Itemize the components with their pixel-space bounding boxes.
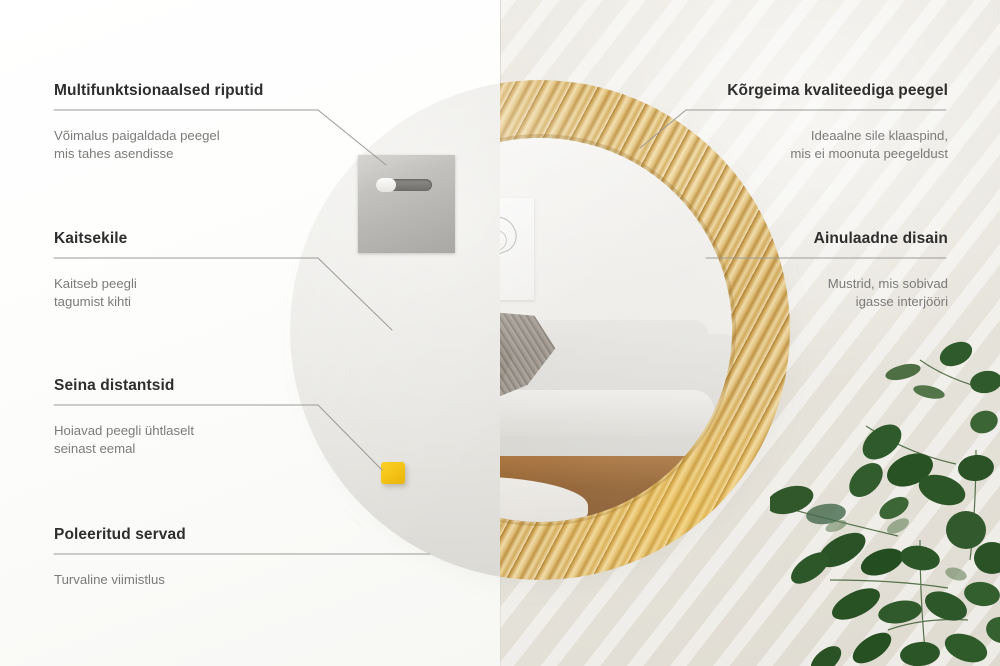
callout-multifunktsionaalsed-riputid: Multifunktsionaalsed riputid Võimalus pa… bbox=[54, 82, 314, 163]
callout-desc-line2: igasse interjööri bbox=[688, 293, 948, 311]
callout-desc-line1: Võimalus paigaldada peegel bbox=[54, 127, 314, 145]
eucalyptus-foliage bbox=[770, 330, 1000, 666]
callout-title: Kaitsekile bbox=[54, 230, 314, 249]
infographic-canvas: Multifunktsionaalsed riputid Võimalus pa… bbox=[0, 0, 1000, 666]
callout-rule-spacer bbox=[54, 101, 314, 115]
callout-desc-line1: Kaitseb peegli bbox=[54, 275, 314, 293]
callout-desc-line2: seinast eemal bbox=[54, 440, 314, 458]
callout-desc-line2: mis ei moonuta peegeldust bbox=[648, 145, 948, 163]
callout-title: Multifunktsionaalsed riputid bbox=[54, 82, 314, 101]
callout-kaitsekile: Kaitsekile Kaitseb peegli tagumist kihti bbox=[54, 230, 314, 311]
callout-desc-line1: Mustrid, mis sobivad bbox=[688, 275, 948, 293]
callout-title: Kõrgeima kvaliteediga peegel bbox=[648, 82, 948, 101]
callout-gap bbox=[54, 559, 354, 571]
callout-rule-spacer bbox=[54, 545, 354, 559]
callout-korgeima-kvaliteediga-peegel: Kõrgeima kvaliteediga peegel Ideaalne si… bbox=[648, 82, 948, 163]
callout-poleeritud-servad: Poleeritud servad Turvaline viimistlus bbox=[54, 526, 354, 589]
callout-desc-line1: Ideaalne sile klaaspind, bbox=[648, 127, 948, 145]
callout-title: Poleeritud servad bbox=[54, 526, 354, 545]
callout-gap bbox=[688, 263, 948, 275]
callout-rule-spacer bbox=[648, 101, 948, 115]
callout-gap bbox=[54, 115, 314, 127]
callout-gap bbox=[54, 263, 314, 275]
callout-title: Ainulaadne disain bbox=[688, 230, 948, 249]
callout-desc-line1: Hoiavad peegli ühtlaselt bbox=[54, 422, 314, 440]
callout-gap bbox=[54, 410, 314, 422]
callout-title: Seina distantsid bbox=[54, 377, 314, 396]
callout-gap bbox=[648, 115, 948, 127]
callout-desc-line1: Turvaline viimistlus bbox=[54, 571, 354, 589]
callout-rule-spacer bbox=[54, 396, 314, 410]
callout-seina-distantsid: Seina distantsid Hoiavad peegli ühtlasel… bbox=[54, 377, 314, 458]
callout-rule-spacer bbox=[688, 249, 948, 263]
callout-rule-spacer bbox=[54, 249, 314, 263]
callout-ainulaadne-disain: Ainulaadne disain Mustrid, mis sobivad i… bbox=[688, 230, 948, 311]
callout-desc-line2: mis tahes asendisse bbox=[54, 145, 314, 163]
callout-desc-line2: tagumist kihti bbox=[54, 293, 314, 311]
